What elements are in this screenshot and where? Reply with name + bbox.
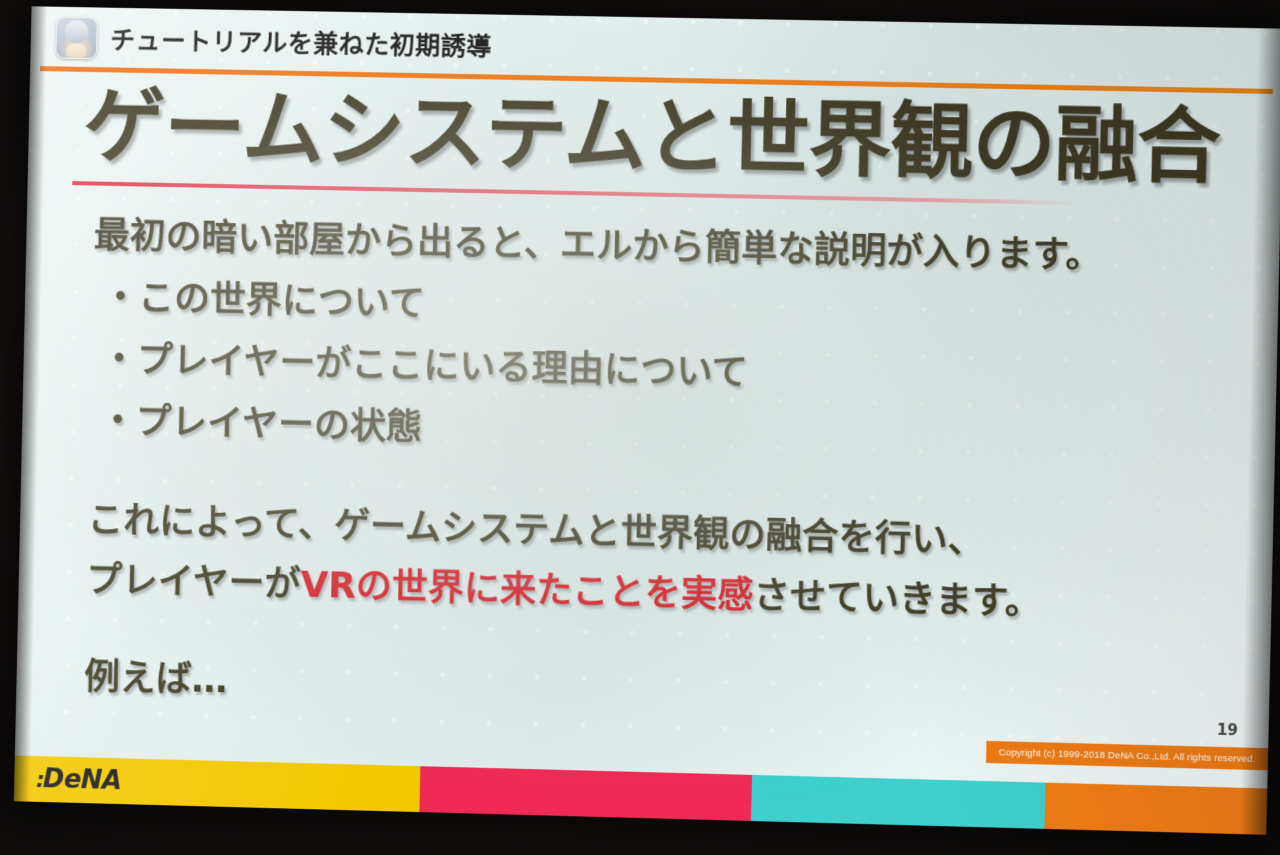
slide: チュートリアルを兼ねた初期誘導 ゲームシステムと世界観の融合 最初の暗い部屋から… [14, 6, 1280, 835]
footer-bar-teal [751, 775, 1045, 829]
copyright-text: Copyright (c) 1999-2018 DeNA Co.,Ltd. Al… [999, 747, 1256, 765]
copyright-bar: Copyright (c) 1999-2018 DeNA Co.,Ltd. Al… [986, 741, 1268, 770]
closing-line: 例えば… [84, 648, 1243, 729]
footer-bar-pink [419, 766, 752, 821]
projected-slide-photo: チュートリアルを兼ねた初期誘導 ゲームシステムと世界観の融合 最初の暗い部屋から… [0, 0, 1280, 855]
footer-bar-yellow: :DeNA [14, 756, 421, 813]
logo-text: DeNA [43, 764, 122, 796]
logo-mark: : [36, 768, 42, 793]
header-title: チュートリアルを兼ねた初期誘導 [110, 21, 492, 64]
footer-color-bars: :DeNA [14, 756, 1268, 835]
conclusion-highlight: VRの世界に来たことを実感 [300, 565, 754, 617]
footer-bar-orange [1044, 783, 1267, 835]
slide-body: 最初の暗い部屋から出ると、エルから簡単な説明が入ります。 ・この世界について ・… [84, 206, 1253, 729]
conclusion-prefix: プレイヤーが [86, 559, 301, 605]
character-avatar-icon [55, 17, 98, 60]
slide-surface: チュートリアルを兼ねた初期誘導 ゲームシステムと世界観の融合 最初の暗い部屋から… [14, 6, 1280, 835]
conclusion-suffix: させていきます。 [753, 575, 1042, 623]
screen-edge-left [14, 6, 48, 801]
page-title: ゲームシステムと世界観の融合 [83, 85, 1253, 191]
page-number: 19 [1217, 721, 1239, 740]
dena-logo: :DeNA [36, 764, 122, 796]
